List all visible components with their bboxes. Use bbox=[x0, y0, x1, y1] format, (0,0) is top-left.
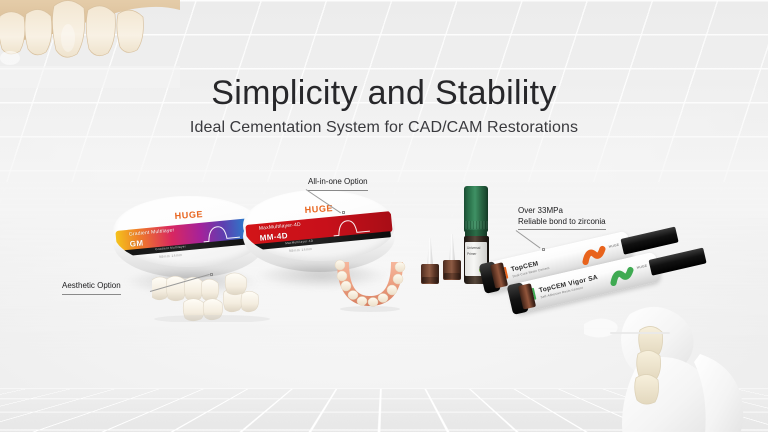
page-title: Simplicity and Stability bbox=[0, 74, 768, 113]
bottle-cap bbox=[464, 186, 488, 232]
zirconia-crowns bbox=[152, 272, 284, 322]
slide-canvas: Simplicity and Stability Ideal Cementati… bbox=[0, 0, 768, 432]
callout-line-1: Over 33MPa bbox=[518, 206, 606, 217]
gloved-hand-with-bridge bbox=[584, 284, 768, 432]
brand-name: HUGE bbox=[174, 209, 203, 221]
mixing-tip bbox=[421, 238, 439, 284]
callout-line-2: Reliable bond to zirconia bbox=[518, 217, 606, 231]
disc-product-name: Gradient Multilayer bbox=[129, 227, 175, 237]
disc-bar-text: Gradient Multilayer bbox=[155, 245, 186, 252]
bottle-label-line2: Primer bbox=[467, 252, 476, 257]
syringe-plunger[interactable] bbox=[621, 227, 679, 255]
full-arch-denture bbox=[331, 256, 409, 312]
callout-anchor-dot bbox=[210, 273, 213, 276]
callout-bond-strength: Over 33MPa Reliable bond to zirconia bbox=[518, 206, 606, 230]
syringe-plunger[interactable] bbox=[649, 248, 707, 276]
mixing-tip-nozzle bbox=[427, 238, 433, 266]
callout-leader-line bbox=[516, 230, 541, 248]
callout-aesthetic-option: Aesthetic Option bbox=[62, 281, 121, 295]
mixing-tip-nozzle bbox=[449, 234, 455, 262]
mixing-tip bbox=[443, 234, 461, 280]
disc-product-name: MaxMultilayer-4D bbox=[259, 222, 301, 232]
callout-anchor-dot bbox=[342, 211, 345, 214]
callout-anchor-dot bbox=[542, 248, 545, 251]
callout-label: All-in-one Option bbox=[308, 177, 368, 191]
disc-spec-line: 98mm 14mm bbox=[158, 253, 182, 259]
bottle-label-line1: Universal bbox=[467, 246, 480, 251]
disc-spec-line: 98mm 14mm bbox=[288, 247, 312, 253]
disc-bar-text: MaxMultilayer-4D bbox=[285, 239, 313, 246]
page-subtitle: Ideal Cementation System for CAD/CAM Res… bbox=[0, 119, 768, 137]
mixing-tip-base bbox=[421, 264, 439, 284]
mixing-tip-base bbox=[443, 260, 461, 280]
callout-label: Aesthetic Option bbox=[62, 281, 121, 295]
disc-face: HUGE DENTAL MaxMultilayer-4D MM-4D MaxMu… bbox=[243, 190, 395, 261]
callout-all-in-one-option: All-in-one Option bbox=[308, 177, 368, 191]
